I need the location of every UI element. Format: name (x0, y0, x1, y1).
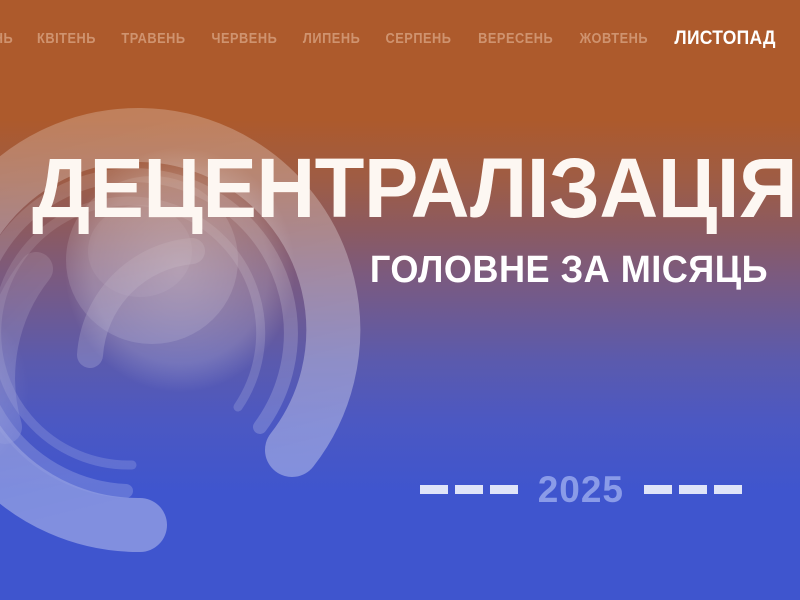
month-item-lypen[interactable]: ЛИПЕНЬ (303, 31, 360, 47)
dash-icon (644, 485, 672, 494)
year-row: 2025 (420, 471, 742, 508)
month-item-veresen[interactable]: ВЕРЕСЕНЬ (478, 31, 553, 47)
year-label: 2025 (538, 471, 624, 508)
dash-group-left (420, 485, 518, 494)
dash-icon (679, 485, 707, 494)
dash-icon (714, 485, 742, 494)
dash-icon (420, 485, 448, 494)
month-item-zhovten[interactable]: ЖОВТЕНЬ (580, 31, 648, 47)
page-title: ДЕЦЕНТРАЛІЗАЦІЯ (32, 150, 746, 227)
page-subtitle: ГОЛОВНЕ ЗА МІСЯЦЬ (69, 251, 768, 289)
month-item-serpen[interactable]: СЕРПЕНЬ (386, 31, 452, 47)
dash-icon (455, 485, 483, 494)
poster-canvas: ЕЗЕНЬ КВІТЕНЬ ТРАВЕНЬ ЧЕРВЕНЬ ЛИПЕНЬ СЕР… (0, 0, 800, 600)
month-item-cherven[interactable]: ЧЕРВЕНЬ (212, 31, 278, 47)
month-item-traven[interactable]: ТРАВЕНЬ (122, 31, 186, 47)
dash-group-right (644, 485, 742, 494)
headline-block: ДЕЦЕНТРАЛІЗАЦІЯ ГОЛОВНЕ ЗА МІСЯЦЬ (0, 150, 800, 289)
month-item-lystopad-active[interactable]: ЛИСТОПАД (675, 28, 776, 50)
month-item-berezen[interactable]: ЕЗЕНЬ (0, 31, 13, 47)
brush-stroke-spiral-icon (0, 55, 460, 600)
month-item-kviten[interactable]: КВІТЕНЬ (37, 31, 96, 47)
dash-icon (490, 485, 518, 494)
month-navigation-strip[interactable]: ЕЗЕНЬ КВІТЕНЬ ТРАВЕНЬ ЧЕРВЕНЬ ЛИПЕНЬ СЕР… (0, 0, 800, 62)
